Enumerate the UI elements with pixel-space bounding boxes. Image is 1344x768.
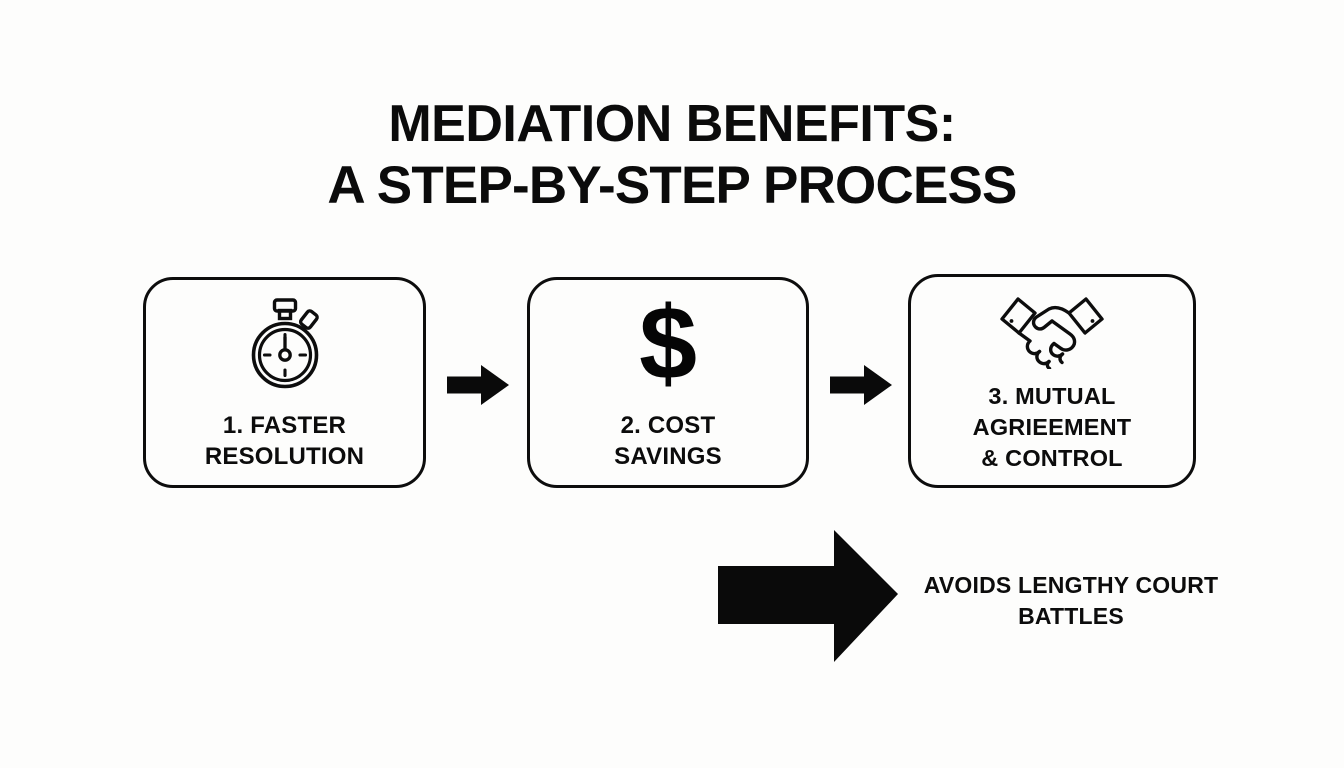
step-card-1-label: 1. FASTER RESOLUTION <box>146 410 423 472</box>
step-card-3-label-line-2: AGRIEEMENT <box>973 414 1132 440</box>
step-card-3-mutual-agreement-control[interactable]: 3. MUTUAL AGRIEEMENT & CONTROL <box>908 274 1196 488</box>
step-card-1-faster-resolution[interactable]: 1. FASTER RESOLUTION <box>143 277 426 488</box>
outcome-caption: AVOIDS LENGTHY COURT BATTLES <box>906 570 1236 632</box>
outcome-large-arrow-icon <box>714 526 902 666</box>
step-card-2-label-line-2: SAVINGS <box>614 443 722 470</box>
page-title: MEDIATION BENEFITS: A STEP-BY-STEP PROCE… <box>0 98 1344 212</box>
stopwatch-icon <box>146 296 423 392</box>
step-card-2-label: 2. COST SAVINGS <box>530 410 806 472</box>
arrow-step1-to-step2-icon <box>445 363 511 407</box>
step-card-3-label: 3. MUTUAL AGRIEEMENT & CONTROL <box>911 381 1193 474</box>
handshake-icon <box>911 291 1193 371</box>
step-card-1-label-line-1: 1. FASTER <box>223 412 346 439</box>
arrow-step2-to-step3-icon <box>828 363 894 407</box>
dollar-sign-icon: $ <box>530 294 806 394</box>
step-card-1-label-line-2: RESOLUTION <box>205 443 364 470</box>
title-line-1: MEDIATION BENEFITS: <box>0 98 1344 150</box>
dollar-sign-glyph: $ <box>639 294 697 394</box>
step-card-2-cost-savings[interactable]: $ 2. COST SAVINGS <box>527 277 809 488</box>
infographic-canvas: MEDIATION BENEFITS: A STEP-BY-STEP PROCE… <box>0 0 1344 768</box>
title-line-2: A STEP-BY-STEP PROCESS <box>0 159 1344 212</box>
step-card-2-label-line-1: 2. COST <box>621 412 716 439</box>
step-card-3-label-line-3: & CONTROL <box>981 445 1122 471</box>
outcome-caption-line-1: AVOIDS LENGTHY COURT <box>906 570 1236 601</box>
step-card-3-label-line-1: 3. MUTUAL <box>988 383 1115 409</box>
outcome-caption-line-2: BATTLES <box>906 601 1236 632</box>
